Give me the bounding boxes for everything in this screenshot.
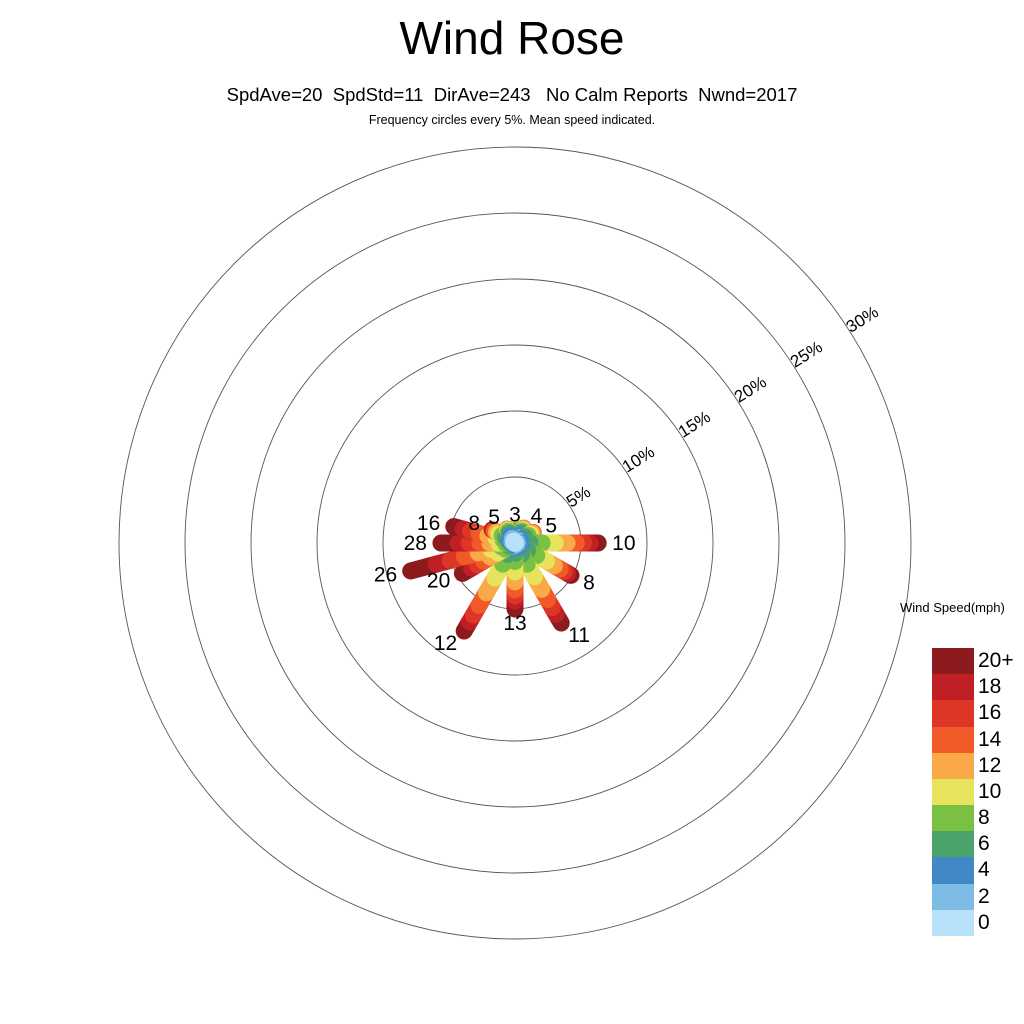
petal-mean-speed-label: 28 [404,532,427,555]
legend-label: 10 [978,778,1001,805]
legend-label: 14 [978,726,1001,753]
legend-row: 18 [932,674,974,700]
petal-mean-speed-label: 16 [417,512,440,535]
radial-tick-label: 15% [675,407,714,441]
legend-label: 16 [978,699,1001,726]
radial-tick-label: 30% [843,302,882,336]
petal-mean-speed-label: 12 [434,632,457,655]
radial-tick-label: 5% [563,482,594,511]
legend-color-swatch [932,884,974,910]
legend-title: Wind Speed(mph) [900,600,1024,616]
petal-mean-speed-label: 8 [583,571,595,594]
legend-color-swatch [932,857,974,883]
polar-plot: 5%10%15%20%25%30% 3451081113122026281685 [0,0,1024,1024]
legend-label: 12 [978,752,1001,779]
legend-label: 6 [978,830,990,857]
petal-mean-speed-label: 5 [488,506,500,529]
legend-color-swatch [932,805,974,831]
legend-row: 0 [932,910,974,936]
petal-mean-speed-label: 26 [374,564,397,587]
legend: Wind Speed(mph) 20+181614121086420 [900,600,1024,950]
legend-row: 2 [932,884,974,910]
legend-label: 8 [978,804,990,831]
legend-label: 20+ [978,647,1014,674]
legend-label: 0 [978,909,990,936]
petal-mean-speed-label: 11 [568,624,590,647]
radial-axis-labels: 5%10%15%20%25%30% [563,302,882,511]
legend-color-swatch [932,674,974,700]
radial-tick-label: 25% [787,337,826,371]
petal-mean-speed-label: 4 [531,505,543,528]
legend-color-swatch [932,910,974,936]
legend-color-swatch [932,700,974,726]
legend-label: 2 [978,883,990,910]
petal-mean-speed-label: 20 [427,569,450,592]
petal-mean-speed-label: 13 [503,612,526,635]
legend-row: 10 [932,779,974,805]
legend-row: 6 [932,831,974,857]
legend-color-swatch [932,779,974,805]
legend-row: 4 [932,857,974,883]
wind-rose-figure: Wind Rose SpdAve=20 SpdStd=11 DirAve=243… [0,0,1024,1024]
petal-segment [514,541,515,543]
legend-row: 12 [932,753,974,779]
petal-mean-speed-label: 10 [612,532,635,555]
radial-tick-label: 20% [731,372,770,406]
petal-mean-speed-label: 5 [545,514,557,537]
petal-mean-speed-label: 3 [509,503,521,526]
petal-mean-speed-label: 8 [468,512,480,535]
legend-row: 14 [932,727,974,753]
legend-row: 20+ [932,648,974,674]
legend-color-swatch [932,727,974,753]
legend-color-swatch [932,753,974,779]
legend-color-swatch [932,648,974,674]
legend-row: 8 [932,805,974,831]
legend-color-swatch [932,831,974,857]
legend-label: 4 [978,856,990,883]
legend-row: 16 [932,700,974,726]
legend-label: 18 [978,673,1001,700]
radial-tick-label: 10% [619,442,658,476]
legend-swatch-list: 20+181614121086420 [932,648,974,936]
